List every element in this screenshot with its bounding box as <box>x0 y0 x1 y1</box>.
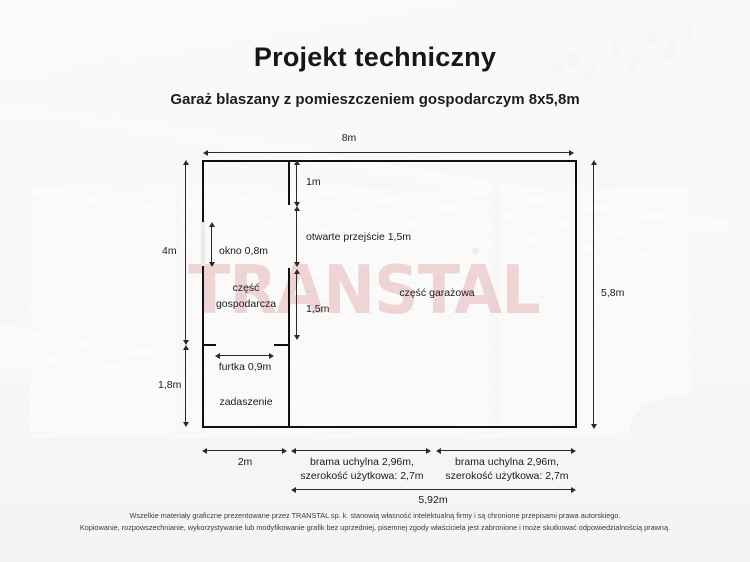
dimension-passage-top-label: 1m <box>306 176 321 189</box>
page-subtitle: Garaż blaszany z pomieszczeniem gospodar… <box>0 91 750 108</box>
dimension-left-lower-label: 1,8m <box>158 379 181 392</box>
dimension-window-label: okno 0,8m <box>219 245 268 258</box>
utility-room-bottom-wall-left <box>202 344 216 346</box>
dimension-bottom-total-label: 5,92m <box>393 494 473 507</box>
wall-right <box>575 160 577 428</box>
room-label-garage: część garażowa <box>367 287 507 300</box>
wall-left-upper <box>202 160 204 222</box>
gate-2-label-line2: szerokość użytkowa: 2,7m <box>412 470 602 483</box>
screenshot-canvas: TRANSTAL ® Projekt techniczny Garaż blas… <box>0 0 750 562</box>
room-label-utility-line1: część <box>196 282 296 295</box>
dimension-left-upper-label: 4m <box>162 245 177 258</box>
copyright-footer: Wszelkie materiały graficzne prezentowan… <box>0 510 750 533</box>
wall-bottom <box>202 426 577 428</box>
dimension-passage-bottom-label: 1,5m <box>306 303 329 316</box>
wall-top <box>202 160 577 162</box>
dimension-door-label: furtka 0,9m <box>200 361 290 374</box>
copyright-line-1: Wszelkie materiały graficzne prezentowan… <box>0 510 750 522</box>
utility-room-bottom-wall-right <box>274 344 290 346</box>
dimension-open-passage-label: otwarte przejście 1,5m <box>306 231 411 244</box>
dimension-right-height-label: 5,8m <box>601 287 624 300</box>
partition-wall-upper <box>288 160 290 205</box>
window-opening-gap <box>201 222 205 266</box>
room-label-canopy: zadaszenie <box>196 396 296 409</box>
room-label-utility-line2: gospodarcza <box>191 298 301 311</box>
watermark-registered-icon: ® <box>472 246 479 256</box>
dimension-top-width-label: 8m <box>309 132 389 145</box>
gate-2-label-line1: brama uchylna 2,96m, <box>417 456 597 469</box>
dimension-bottom-left-label: 2m <box>215 456 275 469</box>
copyright-line-2: Kopiowanie, rozpowszechnianie, wykorzyst… <box>0 522 750 534</box>
page-title: Projekt techniczny <box>0 42 750 73</box>
